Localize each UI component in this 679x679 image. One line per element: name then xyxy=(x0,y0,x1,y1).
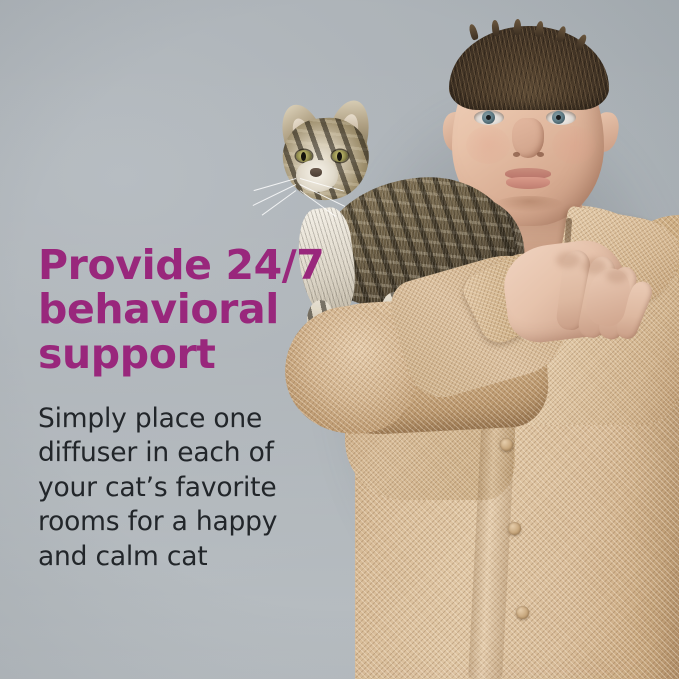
cat-eye-right xyxy=(332,150,348,162)
nostril-left xyxy=(513,152,520,157)
knuckle-shadow xyxy=(606,268,628,283)
cat-pupil xyxy=(337,152,342,161)
headline-line-3: support xyxy=(38,332,338,376)
knuckle-shadow xyxy=(582,258,606,274)
cat-nose xyxy=(310,168,322,177)
body-copy: Simply place one diffuser in each of you… xyxy=(38,376,338,574)
cat-whisker xyxy=(254,178,297,191)
shirt-button xyxy=(508,522,521,535)
cheek-right xyxy=(552,126,596,164)
cat-whisker xyxy=(262,190,297,215)
lower-lip xyxy=(506,177,550,189)
shirt-button xyxy=(516,606,529,619)
pupil-left xyxy=(486,115,491,120)
cat-pupil xyxy=(301,152,306,161)
headline-line-2: behavioral xyxy=(38,287,338,331)
copy-block: Provide 24/7 behavioral support Simply p… xyxy=(38,243,338,574)
body-line-5: and calm cat xyxy=(38,540,338,574)
headline: Provide 24/7 behavioral support xyxy=(38,243,338,376)
body-line-3: your cat’s favorite xyxy=(38,471,338,505)
hair-spike xyxy=(491,20,500,37)
body-line-1: Simply place one xyxy=(38,402,338,436)
knuckle-shadow xyxy=(556,252,580,268)
headline-line-1: Provide 24/7 xyxy=(38,243,338,287)
nostril-right xyxy=(537,152,544,157)
shirt-button xyxy=(500,438,513,451)
hair-spike xyxy=(514,19,522,35)
promotional-image: Provide 24/7 behavioral support Simply p… xyxy=(0,0,679,679)
body-line-4: rooms for a happy xyxy=(38,505,338,539)
pupil-right xyxy=(556,115,561,120)
hair-spike xyxy=(468,23,479,40)
body-line-2: diffuser in each of xyxy=(38,436,338,470)
cheek-left xyxy=(466,126,510,164)
